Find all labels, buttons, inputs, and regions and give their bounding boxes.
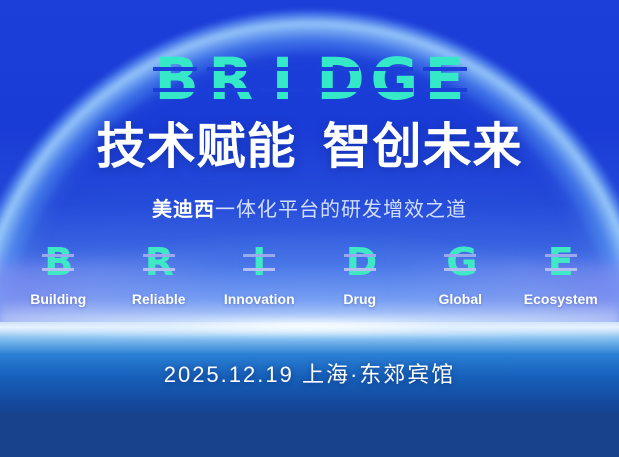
stencil-cut (261, 67, 305, 71)
wordmark-letter: R (209, 50, 249, 108)
stencil-cut (42, 268, 74, 271)
acronym-item-reliable: R Reliable (109, 243, 210, 308)
acronym-label: Reliable (109, 290, 210, 308)
stencil-cut (545, 268, 577, 271)
stencil-cut (153, 67, 197, 71)
wordmark-glyph: E (425, 50, 465, 108)
stencil-cut (207, 67, 251, 71)
wordmark-letter: B (155, 50, 195, 108)
stencil-cut (344, 268, 376, 271)
stencil-cut (243, 254, 275, 257)
stencil-cut (153, 88, 197, 92)
stencil-cut (315, 88, 359, 92)
poster-content: B R I D G E (0, 0, 619, 457)
stencil-cut (344, 254, 376, 257)
stencil-cut (444, 268, 476, 271)
stencil-cut (207, 88, 251, 92)
stencil-cut (423, 67, 467, 71)
acronym-row: B Building R Reliable I (0, 243, 619, 308)
stencil-cut (42, 254, 74, 257)
acronym-glyph: B (44, 243, 72, 281)
main-headline: 技术赋能智创未来 (0, 118, 619, 176)
acronym-letter: B (44, 243, 72, 281)
stencil-cut (143, 254, 175, 257)
acronym-glyph: R (145, 243, 173, 281)
stencil-cut (261, 88, 305, 92)
acronym-letter: I (245, 243, 273, 281)
bridge-wordmark: B R I D G E (0, 50, 619, 108)
stencil-cut (143, 268, 175, 271)
stencil-cut (243, 268, 275, 271)
wordmark-glyph: I (263, 50, 303, 108)
acronym-glyph: D (346, 243, 374, 281)
acronym-label: Building (8, 290, 109, 308)
acronym-label: Innovation (209, 290, 310, 308)
acronym-glyph: I (245, 243, 273, 281)
wordmark-glyph: G (371, 50, 411, 108)
wordmark-letter: I (263, 50, 303, 108)
acronym-item-global: G Global (410, 243, 511, 308)
stencil-cut (444, 254, 476, 257)
acronym-glyph: G (446, 243, 474, 281)
stencil-cut (369, 67, 413, 71)
wordmark-glyph: B (155, 50, 195, 108)
acronym-label: Ecosystem (511, 290, 612, 308)
stencil-cut (369, 88, 413, 92)
acronym-item-ecosystem: E Ecosystem (511, 243, 612, 308)
wordmark-letter: E (425, 50, 465, 108)
event-date-venue: 2025.12.19 上海·东郊宾馆 (0, 360, 619, 390)
stencil-cut (545, 254, 577, 257)
acronym-glyph: E (547, 243, 575, 281)
acronym-label: Global (410, 290, 511, 308)
event-poster: B R I D G E (0, 0, 619, 457)
wordmark-letter: G (371, 50, 411, 108)
headline-part-2: 智创未来 (323, 120, 523, 174)
wordmark-letter: D (317, 50, 357, 108)
acronym-item-innovation: I Innovation (209, 243, 310, 308)
acronym-item-drug: D Drug (310, 243, 411, 308)
acronym-letter: G (446, 243, 474, 281)
stencil-cut (315, 67, 359, 71)
acronym-letter: D (346, 243, 374, 281)
acronym-letter: R (145, 243, 173, 281)
acronym-label: Drug (310, 290, 411, 308)
wordmark-glyph: D (317, 50, 357, 108)
subtitle-tail: 一体化平台的研发增效之道 (215, 199, 467, 221)
acronym-item-building: B Building (8, 243, 109, 308)
brand-name: 美迪西 (152, 199, 215, 221)
headline-part-1: 技术赋能 (96, 120, 296, 174)
stencil-cut (423, 88, 467, 92)
wordmark-glyph: R (209, 50, 249, 108)
subtitle: 美迪西一体化平台的研发增效之道 (0, 196, 619, 224)
acronym-letter: E (547, 243, 575, 281)
